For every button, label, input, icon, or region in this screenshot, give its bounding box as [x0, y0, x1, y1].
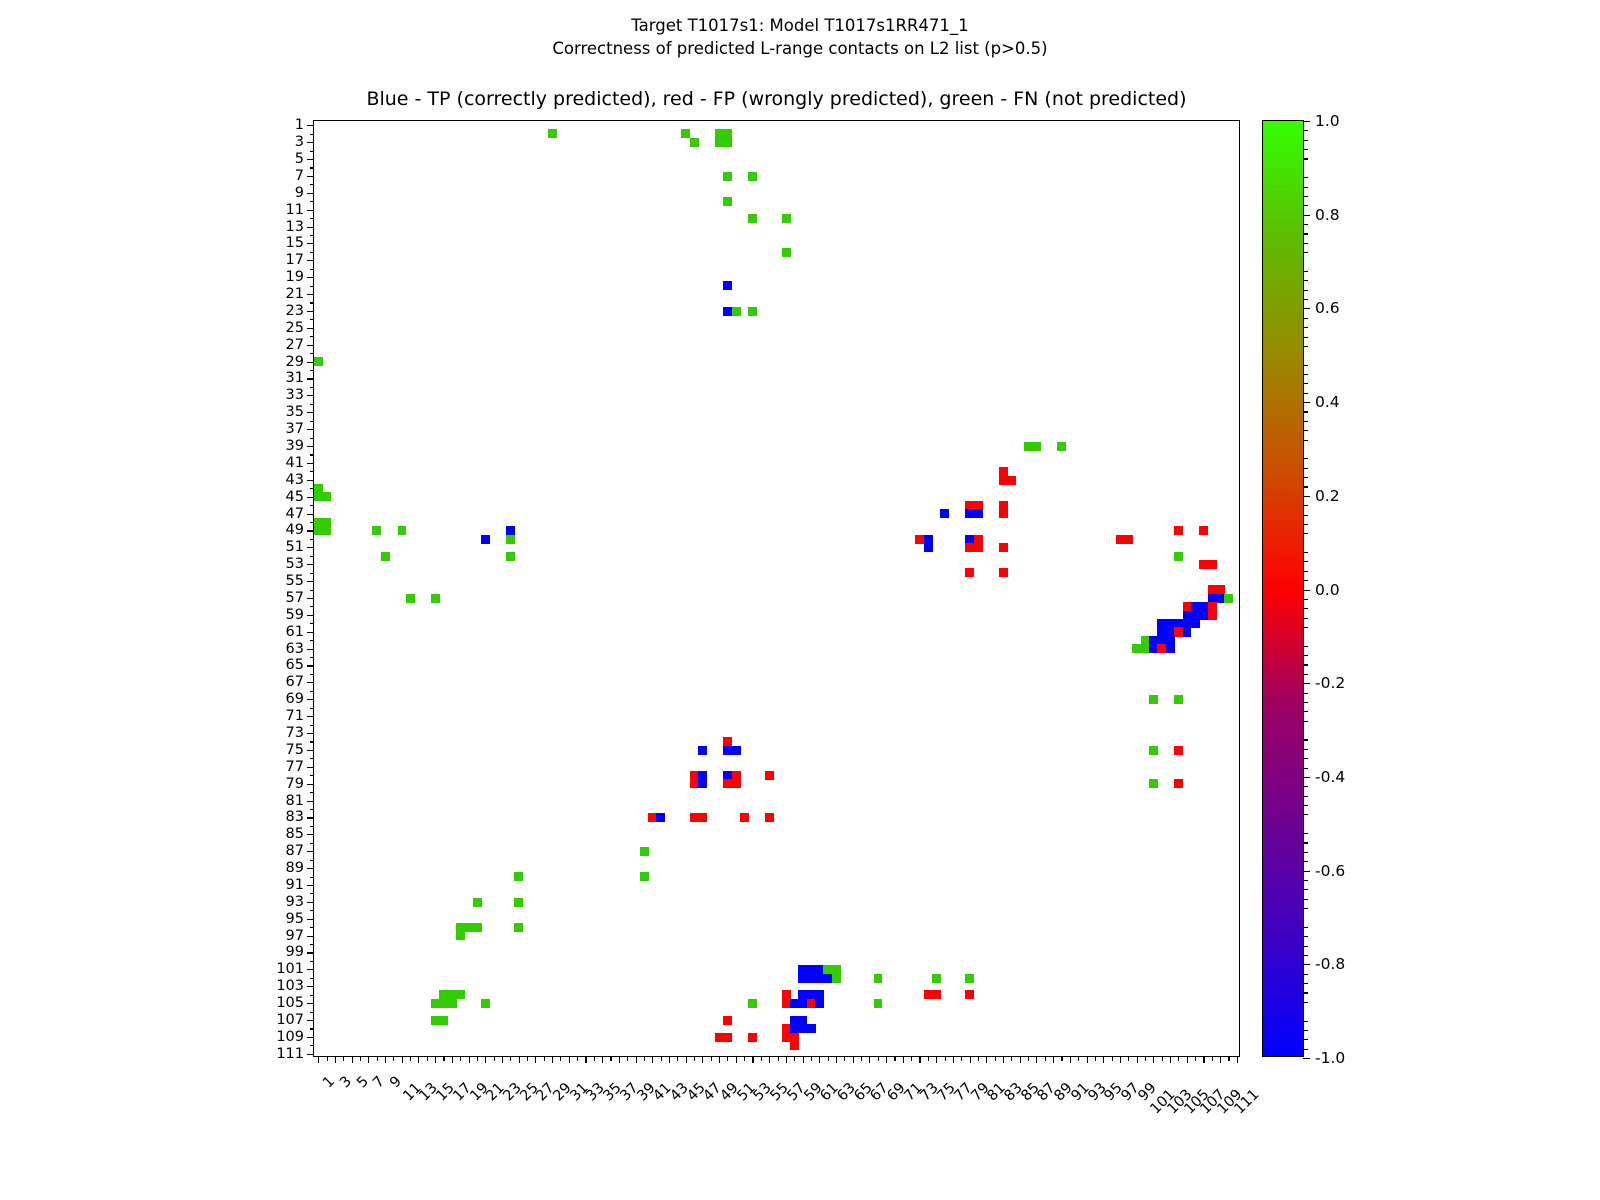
x-axis-tick: [1045, 1056, 1046, 1061]
heatmap-cell: [732, 746, 741, 755]
x-axis-tick: [828, 1056, 829, 1061]
colorbar-minor-tick: [1303, 599, 1308, 600]
heatmap-cell: [456, 931, 465, 940]
x-axis-tick: [443, 1056, 444, 1061]
heatmap-cell: [698, 779, 707, 788]
heatmap-cell: [1174, 695, 1183, 704]
colorbar-minor-tick: [1303, 711, 1308, 712]
y-axis-tick-label: 29: [286, 354, 304, 370]
heatmap-cell: [748, 1033, 757, 1042]
y-axis-tick: [307, 530, 314, 531]
y-axis-tick: [307, 902, 314, 903]
x-axis-tick: [986, 1056, 987, 1063]
heatmap-cell: [1057, 442, 1066, 451]
y-axis-tick: [307, 125, 314, 126]
heatmap-cell: [999, 568, 1008, 577]
x-axis-tick: [335, 1056, 336, 1063]
y-axis-tick: [307, 699, 314, 700]
x-axis-tick: [752, 1056, 753, 1063]
x-axis-tick: [552, 1056, 553, 1063]
colorbar-tick: [1303, 871, 1310, 872]
x-axis-tick: [1228, 1056, 1229, 1061]
y-axis-tick-label: 107: [276, 1012, 304, 1028]
heatmap-cell: [698, 813, 707, 822]
y-axis-tick: [310, 438, 315, 439]
heatmap-cell: [473, 923, 482, 932]
y-axis-tick: [310, 184, 315, 185]
heatmap-cell: [723, 1016, 732, 1025]
y-axis-tick: [307, 378, 314, 379]
colorbar-minor-tick: [1303, 430, 1308, 431]
heatmap-cell: [940, 509, 949, 518]
x-axis-tick: [377, 1056, 378, 1061]
colorbar-minor-tick: [1303, 992, 1308, 993]
heatmap-cell: [732, 307, 741, 316]
colorbar-tick-label: 0.8: [1315, 206, 1340, 224]
y-axis-tick: [310, 708, 315, 709]
x-axis-tick: [502, 1056, 503, 1063]
heatmap-cell: [723, 1033, 732, 1042]
figure-canvas: Target T1017s1: Model T1017s1RR471_1 Cor…: [0, 0, 1600, 1200]
colorbar-tick-label: 0.2: [1315, 487, 1340, 505]
x-axis-tick: [936, 1056, 937, 1063]
heatmap-cell: [506, 552, 515, 561]
y-axis-tick: [310, 370, 315, 371]
y-axis-tick-label: 1: [295, 117, 304, 133]
colorbar-tick-label: -0.8: [1315, 955, 1345, 973]
y-axis-tick: [307, 952, 314, 953]
colorbar-minor-tick: [1303, 927, 1308, 928]
colorbar-minor-tick: [1303, 252, 1308, 253]
y-axis-tick: [310, 1045, 315, 1046]
y-axis-tick: [307, 615, 314, 616]
x-axis-tick: [978, 1056, 979, 1061]
y-axis-tick-label: 81: [286, 793, 304, 809]
colorbar-tick-label: -1.0: [1315, 1049, 1345, 1067]
y-axis-tick: [307, 193, 314, 194]
y-axis-tick-label: 9: [295, 185, 304, 201]
colorbar-minor-tick: [1303, 130, 1308, 131]
x-axis-tick: [343, 1056, 344, 1061]
y-axis-tick-label: 43: [286, 472, 304, 488]
heatmap-cell: [1199, 526, 1208, 535]
y-axis-tick: [307, 463, 314, 464]
colorbar-tick: [1303, 777, 1310, 778]
heatmap-cell: [506, 535, 515, 544]
figure-suptitle: Target T1017s1: Model T1017s1RR471_1 Cor…: [0, 14, 1600, 61]
y-axis-tick: [310, 944, 315, 945]
y-axis-tick: [307, 412, 314, 413]
x-axis-tick: [1162, 1056, 1163, 1061]
colorbar-minor-tick: [1303, 768, 1308, 769]
y-axis-tick-label: 85: [286, 826, 304, 842]
y-axis-tick: [307, 497, 314, 498]
colorbar-minor-tick: [1303, 271, 1308, 272]
x-axis-tick: [569, 1056, 570, 1063]
colorbar-minor-tick: [1303, 205, 1308, 206]
heatmap-cell: [1032, 442, 1041, 451]
heatmap-cell: [723, 281, 732, 290]
y-axis-tick: [310, 286, 315, 287]
y-axis-tick-label: 89: [286, 860, 304, 876]
y-axis-tick-label: 79: [286, 776, 304, 792]
x-axis-tick: [995, 1056, 996, 1061]
y-axis-tick: [310, 623, 315, 624]
x-axis-tick: [327, 1056, 328, 1061]
colorbar-minor-tick: [1303, 290, 1308, 291]
y-axis-tick-label: 13: [286, 219, 304, 235]
heatmap-cell: [431, 999, 440, 1008]
y-axis-tick-label: 7: [295, 168, 304, 184]
x-axis-tick: [1237, 1056, 1238, 1063]
y-axis-tick-label: 63: [286, 641, 304, 657]
x-axis-tick: [1212, 1056, 1213, 1061]
colorbar-minor-tick: [1303, 149, 1308, 150]
x-axis-tick: [494, 1056, 495, 1061]
y-axis-tick: [310, 809, 315, 810]
y-axis-tick: [310, 269, 315, 270]
y-axis-tick: [307, 801, 314, 802]
colorbar-tick: [1303, 1058, 1310, 1059]
heatmap-cell: [1007, 476, 1016, 485]
y-axis-tick: [307, 1020, 314, 1021]
x-axis-tick: [970, 1056, 971, 1063]
y-axis-tick-label: 109: [276, 1029, 304, 1045]
x-axis-tick: [427, 1056, 428, 1061]
y-axis-tick: [307, 514, 314, 515]
y-axis-tick: [310, 1012, 315, 1013]
colorbar-tick-label: -0.2: [1315, 674, 1345, 692]
x-axis-tick: [794, 1056, 795, 1061]
colorbar-minor-tick: [1303, 833, 1308, 834]
y-axis-tick: [310, 404, 315, 405]
heatmap-cell: [1124, 535, 1133, 544]
y-axis-tick-label: 11: [286, 202, 304, 218]
x-axis-tick: [844, 1056, 845, 1061]
colorbar-minor-tick: [1303, 374, 1308, 375]
x-axis-tick: [953, 1056, 954, 1063]
y-axis-tick-label: 67: [286, 674, 304, 690]
x-axis-tick: [869, 1056, 870, 1063]
heatmap-cell: [723, 197, 732, 206]
colorbar-minor-tick: [1303, 1002, 1308, 1003]
heatmap-cell: [548, 129, 557, 138]
heatmap-cell: [1174, 526, 1183, 535]
heatmap-cell: [398, 526, 407, 535]
x-axis-tick: [786, 1056, 787, 1063]
axes-title: Blue - TP (correctly predicted), red - F…: [0, 88, 1553, 110]
colorbar-minor-tick: [1303, 187, 1308, 188]
heatmap-cell: [640, 872, 649, 881]
y-axis-tick-label: 83: [286, 809, 304, 825]
y-axis-tick-label: 15: [286, 235, 304, 251]
y-axis-tick-label: 51: [286, 539, 304, 555]
y-axis-tick-label: 3: [295, 134, 304, 150]
colorbar-tick-label: -0.6: [1315, 862, 1345, 880]
x-axis-tick: [928, 1056, 929, 1061]
colorbar-minor-tick: [1303, 655, 1308, 656]
x-axis-tick: [1095, 1056, 1096, 1061]
colorbar-minor-tick: [1303, 955, 1308, 956]
y-axis-tick: [310, 927, 315, 928]
x-axis-tick: [352, 1056, 353, 1063]
colorbar-minor-tick: [1303, 299, 1308, 300]
x-axis-tick: [360, 1056, 361, 1061]
x-axis-tick: [527, 1056, 528, 1061]
colorbar-minor-tick: [1303, 814, 1308, 815]
y-axis-tick: [307, 767, 314, 768]
heatmap-cell: [732, 779, 741, 788]
colorbar-tick: [1303, 496, 1310, 497]
y-axis-tick: [310, 741, 315, 742]
x-axis-tick: [1087, 1056, 1088, 1063]
x-axis-tick: [1187, 1056, 1188, 1063]
colorbar-minor-tick: [1303, 880, 1308, 881]
y-axis-tick: [307, 986, 314, 987]
colorbar-minor-tick: [1303, 974, 1308, 975]
y-axis-tick: [310, 167, 315, 168]
heatmap-cell: [723, 172, 732, 181]
y-axis-tick: [307, 682, 314, 683]
heatmap-cell: [514, 923, 523, 932]
colorbar-minor-tick: [1303, 861, 1308, 862]
y-axis-tick: [307, 345, 314, 346]
colorbar-minor-tick: [1303, 337, 1308, 338]
x-axis-tick: [903, 1056, 904, 1063]
y-axis-tick-label: 75: [286, 742, 304, 758]
heatmap-cell: [1208, 560, 1217, 569]
x-axis-tick: [669, 1056, 670, 1063]
x-axis-tick: [719, 1056, 720, 1063]
x-axis-tick: [736, 1056, 737, 1063]
x-axis-tick: [585, 1056, 586, 1063]
y-axis-tick-label: 17: [286, 252, 304, 268]
y-axis-tick: [307, 547, 314, 548]
heatmap-cell: [832, 974, 841, 983]
y-axis-tick: [307, 564, 314, 565]
y-axis-tick: [307, 750, 314, 751]
colorbar-minor-tick: [1303, 786, 1308, 787]
heatmap-cell: [932, 990, 941, 999]
heatmap-cell: [782, 214, 791, 223]
x-axis-tick: [961, 1056, 962, 1061]
colorbar-minor-tick: [1303, 899, 1308, 900]
x-axis-tick: [1103, 1056, 1104, 1063]
x-axis-tick: [510, 1056, 511, 1061]
heatmap-cell: [372, 526, 381, 535]
x-axis-tick: [861, 1056, 862, 1061]
y-axis-tick: [310, 218, 315, 219]
x-axis-tick: [1195, 1056, 1196, 1061]
colorbar-minor-tick: [1303, 936, 1308, 937]
x-axis-tick: [485, 1056, 486, 1063]
y-axis-tick: [307, 885, 314, 886]
colorbar-minor-tick: [1303, 393, 1308, 394]
x-axis-tick-label: 9: [387, 1074, 405, 1092]
x-axis-tick: [1145, 1056, 1146, 1061]
y-axis-tick: [310, 488, 315, 489]
heatmap-cell: [314, 357, 323, 366]
x-axis-tick: [602, 1056, 603, 1063]
colorbar-minor-tick: [1303, 889, 1308, 890]
y-axis-tick-label: 35: [286, 404, 304, 420]
colorbar-minor-tick: [1303, 805, 1308, 806]
x-axis-tick: [853, 1056, 854, 1063]
x-axis-tick: [911, 1056, 912, 1061]
heatmap-cell: [1149, 779, 1158, 788]
heatmap-cell: [815, 999, 824, 1008]
y-axis-tick: [307, 868, 314, 869]
colorbar-tick: [1303, 683, 1310, 684]
x-axis-tick: [318, 1056, 319, 1063]
heatmap-cell: [765, 771, 774, 780]
colorbar-minor-tick: [1303, 664, 1308, 665]
colorbar-minor-tick: [1303, 327, 1308, 328]
y-axis-tick-label: 73: [286, 725, 304, 741]
heatmap-cell: [748, 214, 757, 223]
y-axis-tick: [307, 328, 314, 329]
x-axis-tick: [894, 1056, 895, 1061]
x-axis-tick: [727, 1056, 728, 1061]
heatmap-cell-layer: [314, 121, 1239, 1056]
x-axis-tick: [1020, 1056, 1021, 1063]
colorbar-minor-tick: [1303, 505, 1308, 506]
y-axis-tick: [310, 201, 315, 202]
colorbar-minor-tick: [1303, 561, 1308, 562]
y-axis-tick-label: 47: [286, 506, 304, 522]
y-axis-tick: [310, 522, 315, 523]
x-axis-tick: [686, 1056, 687, 1063]
colorbar-minor-tick: [1303, 458, 1308, 459]
x-axis-tick: [819, 1056, 820, 1063]
colorbar-tick-label: 0.0: [1315, 581, 1340, 599]
x-axis-tick: [677, 1056, 678, 1061]
x-axis-tick: [460, 1056, 461, 1061]
y-axis-tick: [307, 936, 314, 937]
y-axis-tick-label: 61: [286, 624, 304, 640]
colorbar-minor-tick: [1303, 908, 1308, 909]
y-axis-tick: [307, 142, 314, 143]
colorbar-minor-tick: [1303, 233, 1308, 234]
y-axis-tick: [310, 910, 315, 911]
y-axis-tick-label: 93: [286, 894, 304, 910]
colorbar-minor-tick: [1303, 177, 1308, 178]
colorbar[interactable]: 1.00.80.60.40.20.0-0.2-0.4-0.6-0.8-1.0: [1262, 120, 1304, 1057]
y-axis-tick: [307, 834, 314, 835]
y-axis-tick: [307, 260, 314, 261]
colorbar-tick: [1303, 590, 1310, 591]
colorbar-minor-tick: [1303, 1049, 1308, 1050]
colorbar-minor-tick: [1303, 486, 1308, 487]
y-axis-tick: [307, 851, 314, 852]
colorbar-minor-tick: [1303, 693, 1308, 694]
x-axis-tick: [1003, 1056, 1004, 1063]
colorbar-tick-label: 0.4: [1315, 393, 1340, 411]
x-axis-tick: [1078, 1056, 1079, 1061]
y-axis-tick: [310, 319, 315, 320]
y-axis-tick: [310, 860, 315, 861]
x-axis-tick: [452, 1056, 453, 1063]
x-axis-tick: [836, 1056, 837, 1063]
x-axis-tick: [385, 1056, 386, 1063]
y-axis-tick-label: 25: [286, 320, 304, 336]
y-axis-tick: [310, 725, 315, 726]
y-axis-tick: [307, 733, 314, 734]
colorbar-tick: [1303, 215, 1310, 216]
heatmap-cell: [1174, 746, 1183, 755]
contact-map-plot-area[interactable]: 1357911131517192123252729313335373941434…: [313, 120, 1240, 1057]
y-axis-tick: [310, 336, 315, 337]
y-axis-tick: [310, 657, 315, 658]
x-axis-tick: [610, 1056, 611, 1061]
x-axis-tick: [1070, 1056, 1071, 1063]
heatmap-cell: [965, 974, 974, 983]
colorbar-minor-tick: [1303, 1039, 1308, 1040]
x-axis-tick: [811, 1056, 812, 1061]
y-axis-tick-label: 105: [276, 995, 304, 1011]
y-axis-tick: [310, 421, 315, 422]
colorbar-minor-tick: [1303, 721, 1308, 722]
x-axis-tick: [393, 1056, 394, 1061]
x-axis-tick: [594, 1056, 595, 1061]
colorbar-minor-tick: [1303, 365, 1308, 366]
heatmap-cell: [439, 1016, 448, 1025]
heatmap-cell: [473, 898, 482, 907]
heatmap-cell: [322, 492, 331, 501]
y-axis-tick: [307, 1037, 314, 1038]
y-axis-tick-label: 57: [286, 590, 304, 606]
heatmap-cell: [514, 872, 523, 881]
y-axis-tick: [307, 176, 314, 177]
colorbar-minor-tick: [1303, 411, 1308, 412]
y-axis-tick-label: 45: [286, 489, 304, 505]
y-axis-tick: [310, 978, 315, 979]
y-axis-tick: [307, 294, 314, 295]
x-axis-tick: [886, 1056, 887, 1063]
y-axis-tick-label: 97: [286, 928, 304, 944]
x-axis-tick: [644, 1056, 645, 1061]
y-axis-tick-label: 31: [286, 370, 304, 386]
y-axis-tick-label: 5: [295, 151, 304, 167]
colorbar-minor-tick: [1303, 946, 1308, 947]
colorbar-minor-tick: [1303, 552, 1308, 553]
y-axis-tick: [307, 665, 314, 666]
y-axis-tick: [310, 252, 315, 253]
y-axis-tick-label: 19: [286, 269, 304, 285]
x-axis-tick: [1178, 1056, 1179, 1061]
x-axis-tick: [803, 1056, 804, 1063]
colorbar-minor-tick: [1303, 983, 1308, 984]
heatmap-cell: [965, 990, 974, 999]
y-axis-tick: [307, 784, 314, 785]
colorbar-tick: [1303, 308, 1310, 309]
colorbar-minor-tick: [1303, 440, 1308, 441]
y-axis-tick: [310, 792, 315, 793]
x-axis-tick: [410, 1056, 411, 1061]
colorbar-minor-tick: [1303, 1021, 1308, 1022]
x-axis-tick: [878, 1056, 879, 1061]
x-axis-tick: [1153, 1056, 1154, 1063]
heatmap-cell: [448, 999, 457, 1008]
x-axis-tick: [1061, 1056, 1062, 1061]
heatmap-cell: [640, 847, 649, 856]
y-axis-tick: [307, 817, 314, 818]
heatmap-cell: [698, 746, 707, 755]
heatmap-cell: [924, 543, 933, 552]
x-axis-tick: [711, 1056, 712, 1061]
x-axis-tick: [1011, 1056, 1012, 1061]
y-axis-tick-label: 33: [286, 387, 304, 403]
